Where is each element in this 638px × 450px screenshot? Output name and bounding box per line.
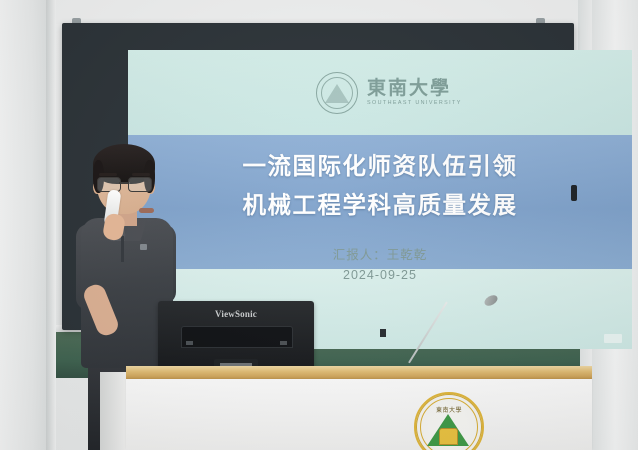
monitor-port-right: [280, 341, 287, 345]
slide-title-line-1: 一流国际化师资队伍引领: [128, 147, 632, 186]
presenter-shirt-placket: [121, 236, 124, 262]
university-wordmark: 東南大學 SOUTHEAST UNIVERSITY: [367, 79, 462, 106]
slide-title-line-2: 机械工程学科高质量发展: [128, 186, 632, 225]
presenter-mouth: [139, 208, 154, 213]
monitor-vent: [181, 326, 293, 348]
slide-footer: 汇报人：王乾乾 2024-09-25: [128, 245, 632, 285]
viewsonic-monitor[interactable]: ViewSonic: [158, 301, 314, 371]
university-logo: 東南大學 SOUTHEAST UNIVERSITY: [316, 67, 476, 119]
presenter-brow-left: [99, 173, 117, 176]
monitor-port-left: [186, 341, 193, 345]
screen-cable-mount: [380, 329, 386, 337]
lecture-hall-scene: 東南大學 SOUTHEAST UNIVERSITY 一流国际化师资队伍引领 机械…: [0, 0, 638, 450]
university-name-cn: 東南大學: [367, 79, 462, 98]
slide-presenter: 汇报人：王乾乾: [128, 245, 632, 265]
presenter-brow-right: [132, 173, 150, 176]
slide-date: 2024-09-25: [128, 265, 632, 285]
seal-icon: [316, 72, 358, 114]
presenter-shirt-logo: [140, 244, 147, 250]
screen-side-button[interactable]: [571, 185, 577, 201]
podium-countertop: [126, 366, 592, 379]
wall-upper: [56, 0, 592, 24]
podium-side: [100, 372, 127, 450]
podium-body[interactable]: [126, 379, 592, 450]
glasses-icon: [97, 177, 152, 190]
wall-left-panel: [0, 0, 46, 450]
seal-triangle-icon: [325, 84, 349, 103]
slide-title: 一流国际化师资队伍引领 机械工程学科高质量发展: [128, 147, 632, 225]
emblem-gate-icon: [439, 428, 458, 445]
emblem-name-cn: 東南大學: [416, 405, 482, 414]
university-name-en: SOUTHEAST UNIVERSITY: [367, 101, 462, 106]
slide-corner-watermark: [604, 334, 622, 343]
wall-left-edge: [46, 0, 56, 450]
glasses-bridge: [119, 182, 130, 184]
monitor-brand-label: ViewSonic: [158, 309, 314, 319]
